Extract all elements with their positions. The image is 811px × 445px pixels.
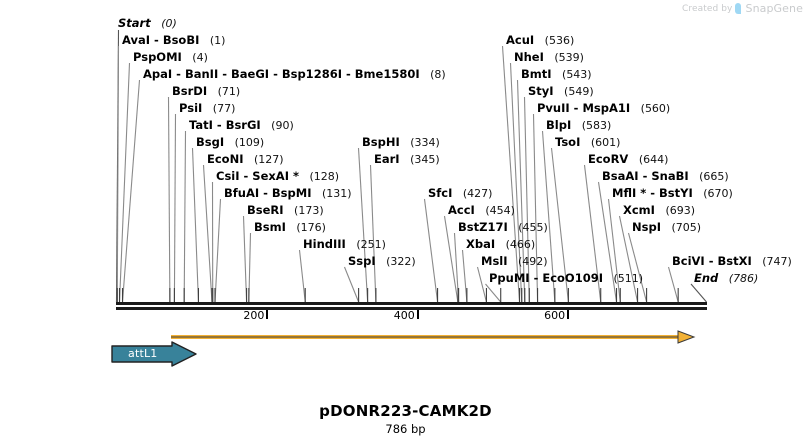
site-position: (90) (261, 119, 294, 132)
site-label-econi[interactable]: EcoNI (127) (207, 153, 284, 166)
terminal-label: Start (118, 16, 151, 30)
site-position: (549) (554, 85, 594, 98)
enzyme-name: ApaI (143, 67, 172, 81)
enzyme-name: AcuI (506, 33, 534, 47)
site-position: (109) (224, 136, 264, 149)
enzyme-name: BspHI (362, 135, 400, 149)
plasmid-map-canvas: Created by SnapGene Start (0)AvaI - BsoB… (0, 0, 811, 445)
enzyme-name: CsiI (216, 169, 240, 183)
site-label-sspi[interactable]: SspI (322) (348, 255, 416, 268)
enzyme-name: PsiI (179, 101, 202, 115)
enzyme-name: MslI (481, 254, 508, 268)
enzyme-name: BspMI (272, 186, 312, 200)
site-position: (492) (508, 255, 548, 268)
site-label-tsoi[interactable]: TsoI (601) (555, 136, 620, 149)
ruler-tick-label: 400 (394, 309, 417, 322)
site-label-tati[interactable]: TatI - BsrGI (90) (189, 119, 294, 132)
site-label-acui[interactable]: AcuI (536) (506, 34, 574, 47)
enzyme-name: EcoO109I (542, 271, 603, 285)
enzyme-name: PvuII (537, 101, 570, 115)
site-label-pspomi[interactable]: PspOMI (4) (133, 51, 208, 64)
site-label-blpi[interactable]: BlpI (583) (546, 119, 611, 132)
enzyme-name: BfuAI (224, 186, 259, 200)
site-position: (539) (544, 51, 584, 64)
site-label-bsrdi[interactable]: BsrDI (71) (172, 85, 240, 98)
terminal-position: (0) (151, 17, 177, 30)
site-label-bmti[interactable]: BmtI (543) (521, 68, 592, 81)
site-position: (747) (752, 255, 792, 268)
site-position: (693) (655, 204, 695, 217)
site-position: (665) (689, 170, 729, 183)
site-position: (127) (243, 153, 283, 166)
ruler-tick (567, 310, 569, 319)
site-position: (4) (182, 51, 208, 64)
site-label-bsaai[interactable]: BsaAI - SnaBI (665) (602, 170, 729, 183)
terminal-start-label[interactable]: Start (0) (118, 17, 177, 30)
site-position: (583) (571, 119, 611, 132)
enzyme-name: Bsp1286I (282, 67, 342, 81)
site-position: (543) (552, 68, 592, 81)
site-position: (427) (452, 187, 492, 200)
site-label-nhei[interactable]: NheI (539) (514, 51, 584, 64)
plasmid-length: 786 bp (0, 422, 811, 436)
bp-ruler: 200400600 (0, 310, 811, 328)
enzyme-name: XcmI (623, 203, 655, 217)
site-position: (511) (603, 272, 643, 285)
ruler-tick-label: 600 (544, 309, 567, 322)
site-label-csii[interactable]: CsiI - SexAI * (128) (216, 170, 339, 183)
enzyme-name: BanII (185, 67, 218, 81)
enzyme-name: AccI (448, 203, 475, 217)
enzyme-name: BstYI (659, 186, 693, 200)
site-label-nspi[interactable]: NspI (705) (632, 221, 701, 234)
site-position: (128) (299, 170, 339, 183)
site-position: (251) (346, 238, 386, 251)
site-position: (71) (207, 85, 240, 98)
restriction-site-labels: Start (0)AvaI - BsoBI (1)PspOMI (4)ApaI … (0, 0, 811, 300)
enzyme-name: BsaAI (602, 169, 639, 183)
site-label-ppumi[interactable]: PpuMI - EcoO109I (511) (489, 272, 643, 285)
ruler-tick (266, 310, 268, 319)
enzyme-name: SspI (348, 254, 376, 268)
title-block: pDONR223-CAMK2D 786 bp (0, 402, 811, 436)
site-label-acci[interactable]: AccI (454) (448, 204, 515, 217)
enzyme-name: TatI (189, 118, 213, 132)
site-position: (705) (661, 221, 701, 234)
enzyme-name: BciVI (672, 254, 705, 268)
enzyme-name: BseRI (247, 203, 284, 217)
terminal-position: (786) (718, 272, 758, 285)
site-label-bfuai[interactable]: BfuAI - BspMI (131) (224, 187, 352, 200)
site-position: (1) (199, 34, 225, 47)
enzyme-name: NheI (514, 50, 544, 64)
terminal-label: End (694, 271, 718, 285)
enzyme-name: BsgI (196, 135, 224, 149)
sequence-bar-top (116, 302, 707, 305)
site-position: (322) (376, 255, 416, 268)
site-label-psii[interactable]: PsiI (77) (179, 102, 235, 115)
site-position: (345) (400, 153, 440, 166)
enzyme-name: BsoBI (163, 33, 200, 47)
site-position: (455) (508, 221, 548, 234)
site-label-bcivi[interactable]: BciVI - BstXI (747) (672, 255, 792, 268)
site-position: (670) (693, 187, 733, 200)
terminal-end-label[interactable]: End (786) (694, 272, 758, 285)
site-label-bstz17i[interactable]: BstZ17I (455) (458, 221, 548, 234)
orf-arrow[interactable] (170, 329, 700, 348)
enzyme-name: BaeGI (231, 67, 269, 81)
ruler-tick (417, 310, 419, 319)
enzyme-name: StyI (528, 84, 554, 98)
enzyme-name: AvaI (122, 33, 150, 47)
site-label-bsmi[interactable]: BsmI (176) (254, 221, 326, 234)
site-label-apai[interactable]: ApaI - BanII - BaeGI - Bsp1286I - Bme158… (143, 68, 446, 81)
site-label-msli[interactable]: MslI (492) (481, 255, 548, 268)
site-position: (466) (495, 238, 535, 251)
site-label-xbai[interactable]: XbaI (466) (466, 238, 535, 251)
enzyme-name: MspA1I (582, 101, 630, 115)
site-label-bsgi[interactable]: BsgI (109) (196, 136, 264, 149)
enzyme-name: HindIII (303, 237, 346, 251)
enzyme-name: BmtI (521, 67, 552, 81)
enzyme-name: SfcI (428, 186, 452, 200)
site-position: (644) (628, 153, 668, 166)
enzyme-name: Bme1580I (355, 67, 420, 81)
site-label-bsphi[interactable]: BspHI (334) (362, 136, 440, 149)
plasmid-name: pDONR223-CAMK2D (0, 402, 811, 420)
enzyme-name: BstZ17I (458, 220, 508, 234)
site-label-pvuii[interactable]: PvuII - MspA1I (560) (537, 102, 670, 115)
enzyme-name: PpuMI (489, 271, 530, 285)
site-position: (536) (534, 34, 574, 47)
enzyme-name: SexAI * (252, 169, 299, 183)
enzyme-name: NspI (632, 220, 661, 234)
enzyme-name: MflI * (612, 186, 646, 200)
enzyme-name: BsmI (254, 220, 286, 234)
site-label-mfli[interactable]: MflI * - BstYI (670) (612, 187, 733, 200)
site-label-eari[interactable]: EarI (345) (374, 153, 440, 166)
site-position: (454) (475, 204, 515, 217)
enzyme-name: BstXI (717, 254, 751, 268)
feature-attl1[interactable] (110, 341, 200, 371)
site-position: (601) (580, 136, 620, 149)
enzyme-name: EcoNI (207, 152, 243, 166)
site-position: (334) (400, 136, 440, 149)
site-position: (131) (312, 187, 352, 200)
site-label-hindiii[interactable]: HindIII (251) (303, 238, 386, 251)
enzyme-name: BlpI (546, 118, 571, 132)
site-position: (560) (630, 102, 670, 115)
site-label-sfci[interactable]: SfcI (427) (428, 187, 492, 200)
enzyme-name: EarI (374, 152, 400, 166)
enzyme-name: BsrDI (172, 84, 207, 98)
site-position: (173) (284, 204, 324, 217)
site-label-xcmi[interactable]: XcmI (693) (623, 204, 695, 217)
enzyme-name: EcoRV (588, 152, 628, 166)
enzyme-name: BsrGI (226, 118, 261, 132)
site-position: (176) (286, 221, 326, 234)
site-label-styi[interactable]: StyI (549) (528, 85, 594, 98)
site-position: (8) (420, 68, 446, 81)
site-label-ecorv[interactable]: EcoRV (644) (588, 153, 668, 166)
site-label-avai[interactable]: AvaI - BsoBI (1) (122, 34, 225, 47)
enzyme-name: PspOMI (133, 50, 182, 64)
ruler-tick-label: 200 (243, 309, 266, 322)
site-label-bseri[interactable]: BseRI (173) (247, 204, 324, 217)
enzyme-name: XbaI (466, 237, 495, 251)
site-position: (77) (202, 102, 235, 115)
enzyme-name: SnaBI (651, 169, 688, 183)
enzyme-name: TsoI (555, 135, 580, 149)
